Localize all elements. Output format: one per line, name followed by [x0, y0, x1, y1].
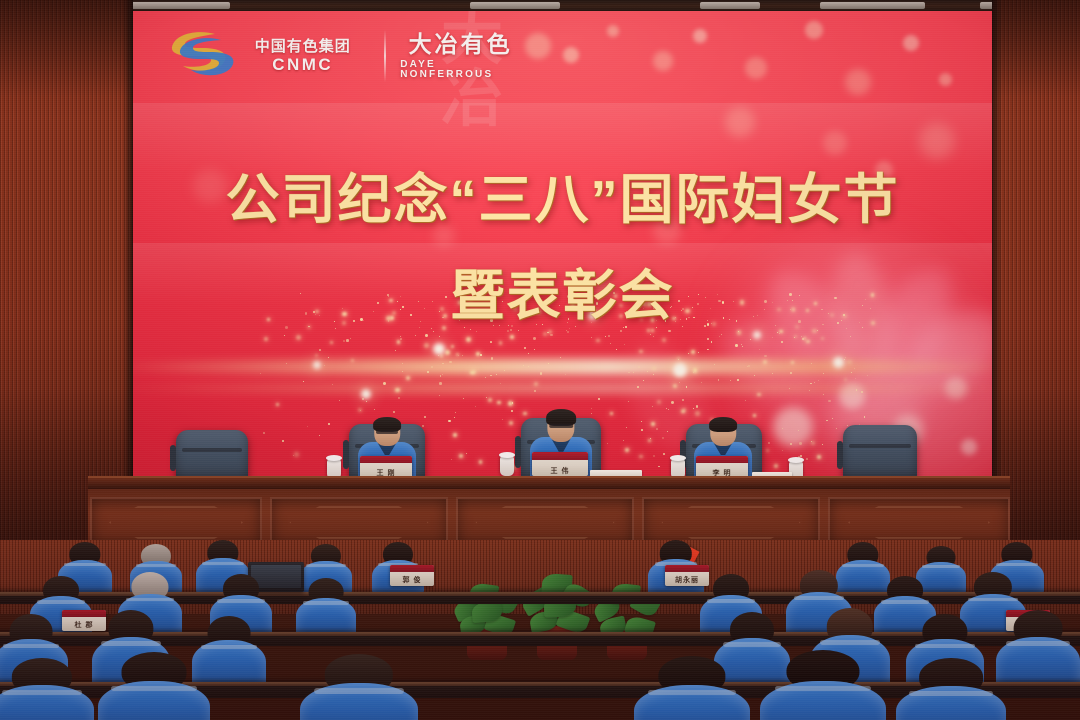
daye-watermark-cn: 大冶	[441, 11, 521, 131]
audience-area: 郭 俊 胡永丽	[0, 540, 1080, 720]
nameplate-text: 王 伟	[532, 468, 588, 475]
audience-member	[760, 650, 886, 720]
nameplate-red-bar	[532, 452, 588, 460]
audience-member	[634, 656, 750, 720]
left-wall-paneling	[0, 0, 133, 540]
cnmc-name-cn: 中国有色集团	[255, 39, 351, 54]
cnmc-s-swoosh-logo	[159, 26, 235, 86]
nameplate-red-bar	[360, 456, 412, 463]
audience-member	[996, 610, 1080, 688]
official-center-glasses	[549, 424, 573, 428]
potted-plant	[520, 570, 594, 660]
right-wall-paneling	[992, 0, 1080, 540]
empty-chair-left	[176, 430, 248, 482]
cnmc-name-en: CNMC	[272, 56, 333, 73]
official-left-glasses	[376, 430, 398, 434]
cnmc-text-block: 中国有色集团 CNMC	[235, 39, 370, 73]
water-cup-center	[500, 456, 514, 476]
nameplate-red-bar	[696, 456, 748, 463]
event-title-line-2: 暨表彰会	[133, 269, 992, 323]
audience-nameplate: 郭 俊	[390, 565, 434, 586]
official-right-hair	[709, 417, 737, 432]
audience-member	[0, 658, 94, 720]
audience-member	[896, 658, 1006, 720]
logo-divider	[384, 30, 386, 82]
empty-chair-right	[843, 425, 917, 481]
audience-member	[98, 652, 210, 720]
event-title-line-1: 公司纪念“三八”国际妇女节	[133, 173, 992, 227]
head-table-top-edge	[88, 476, 1010, 489]
nameplate-official-left: 王 刚	[360, 456, 412, 478]
conference-hall-photo: 中国有色集团 CNMC 大冶有色 DAYE NONFERROUS 大冶 公司纪念…	[0, 0, 1080, 720]
nameplate-official-right: 李 明	[696, 456, 748, 478]
potted-plant	[592, 578, 662, 660]
nameplate-official-center: 王 伟	[532, 452, 588, 476]
audience-member	[296, 578, 356, 636]
audience-member	[300, 654, 418, 720]
brand-logo-lockup: 中国有色集团 CNMC 大冶有色 DAYE NONFERROUS 大冶	[141, 13, 521, 99]
potted-plant	[452, 576, 522, 660]
